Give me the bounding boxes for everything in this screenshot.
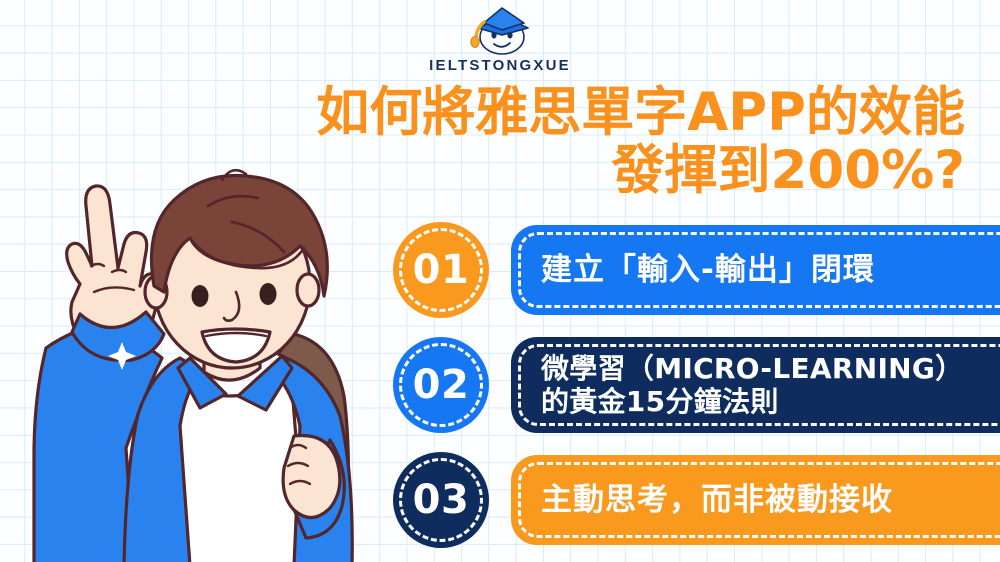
slide-canvas: IELTSTONGXUE 如何將雅思單字APP的效能 發揮到200%? xyxy=(0,0,1000,562)
brand-logo: IELTSTONGXUE xyxy=(0,4,1000,73)
list-item[interactable]: 02 微學習（MICRO-LEARNING） 的黃金15分鐘法則 xyxy=(393,333,1000,437)
list-item[interactable]: 03 主動思考，而非被動接收 xyxy=(393,448,1000,552)
list-item[interactable]: 01 建立「輸入-輸出」閉環 xyxy=(393,218,1000,322)
item-text-03-line-1: 主動思考，而非被動接收 xyxy=(541,480,1000,520)
pointing-student-illustration xyxy=(0,96,414,562)
item-pill-01[interactable]: 建立「輸入-輸出」閉環 xyxy=(511,225,1000,315)
item-pill-03[interactable]: 主動思考，而非被動接收 xyxy=(511,455,1000,545)
item-text-02-line-1: 微學習（MICRO-LEARNING） xyxy=(541,352,1000,385)
item-number-badge-02: 02 xyxy=(393,337,489,433)
graduation-cap-mascot-icon xyxy=(444,4,556,56)
item-number-02: 02 xyxy=(413,362,470,408)
item-number-03: 03 xyxy=(413,477,470,523)
item-text-02-line-2: 的黃金15分鐘法則 xyxy=(541,385,1000,418)
brand-name: IELTSTONGXUE xyxy=(0,58,1000,73)
item-text-01-line-1: 建立「輸入-輸出」閉環 xyxy=(541,250,1000,290)
item-number-badge-03: 03 xyxy=(393,452,489,548)
item-number-01: 01 xyxy=(413,247,470,293)
item-pill-02[interactable]: 微學習（MICRO-LEARNING） 的黃金15分鐘法則 xyxy=(511,337,1000,433)
item-number-badge-01: 01 xyxy=(393,222,489,318)
